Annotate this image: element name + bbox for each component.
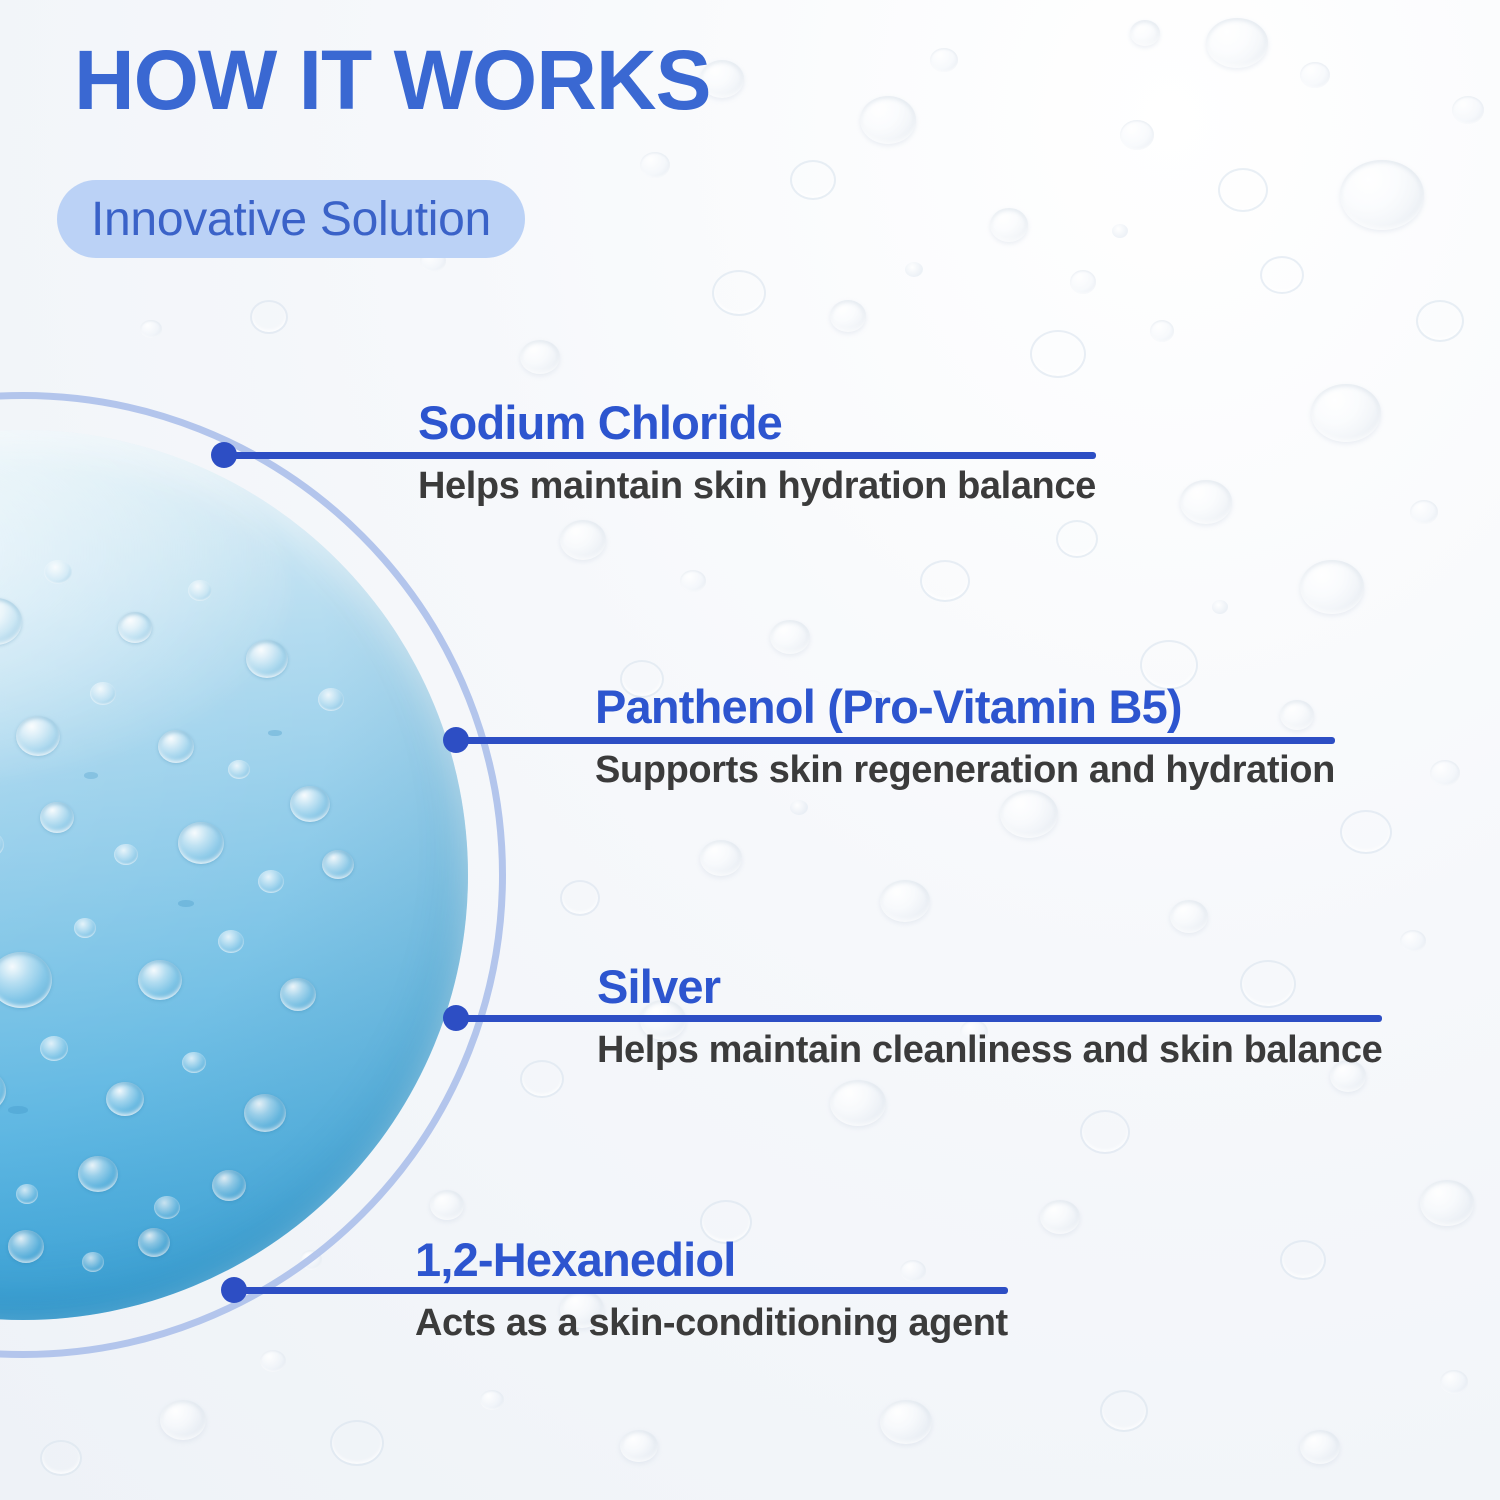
ingredient-description: Acts as a skin-conditioning agent xyxy=(415,1304,1008,1344)
connector-dot-4 xyxy=(221,1277,247,1303)
ingredient-name: Panthenol (Pro-Vitamin B5) xyxy=(595,682,1335,731)
ingredient-name: Sodium Chloride xyxy=(418,398,1096,447)
ingredient-name: 1,2-Hexanediol xyxy=(415,1235,1008,1284)
ingredient-item-hexanediol: 1,2-Hexanediol Acts as a skin-conditioni… xyxy=(415,1235,1008,1344)
ingredient-description: Helps maintain cleanliness and skin bala… xyxy=(597,1031,1382,1071)
ingredient-name: Silver xyxy=(597,962,1382,1011)
ingredient-item-panthenol: Panthenol (Pro-Vitamin B5) Supports skin… xyxy=(595,682,1335,791)
ingredient-description: Helps maintain skin hydration balance xyxy=(418,467,1096,507)
connector-dot-1 xyxy=(211,442,237,468)
ingredient-item-silver: Silver Helps maintain cleanliness and sk… xyxy=(597,962,1382,1071)
connector-dot-2 xyxy=(443,727,469,753)
connector-dot-3 xyxy=(443,1005,469,1031)
infographic-canvas: HOW IT WORKS Innovative Solution xyxy=(0,0,1500,1500)
ingredient-item-sodium-chloride: Sodium Chloride Helps maintain skin hydr… xyxy=(418,398,1096,507)
ingredient-description: Supports skin regeneration and hydration xyxy=(595,751,1335,791)
